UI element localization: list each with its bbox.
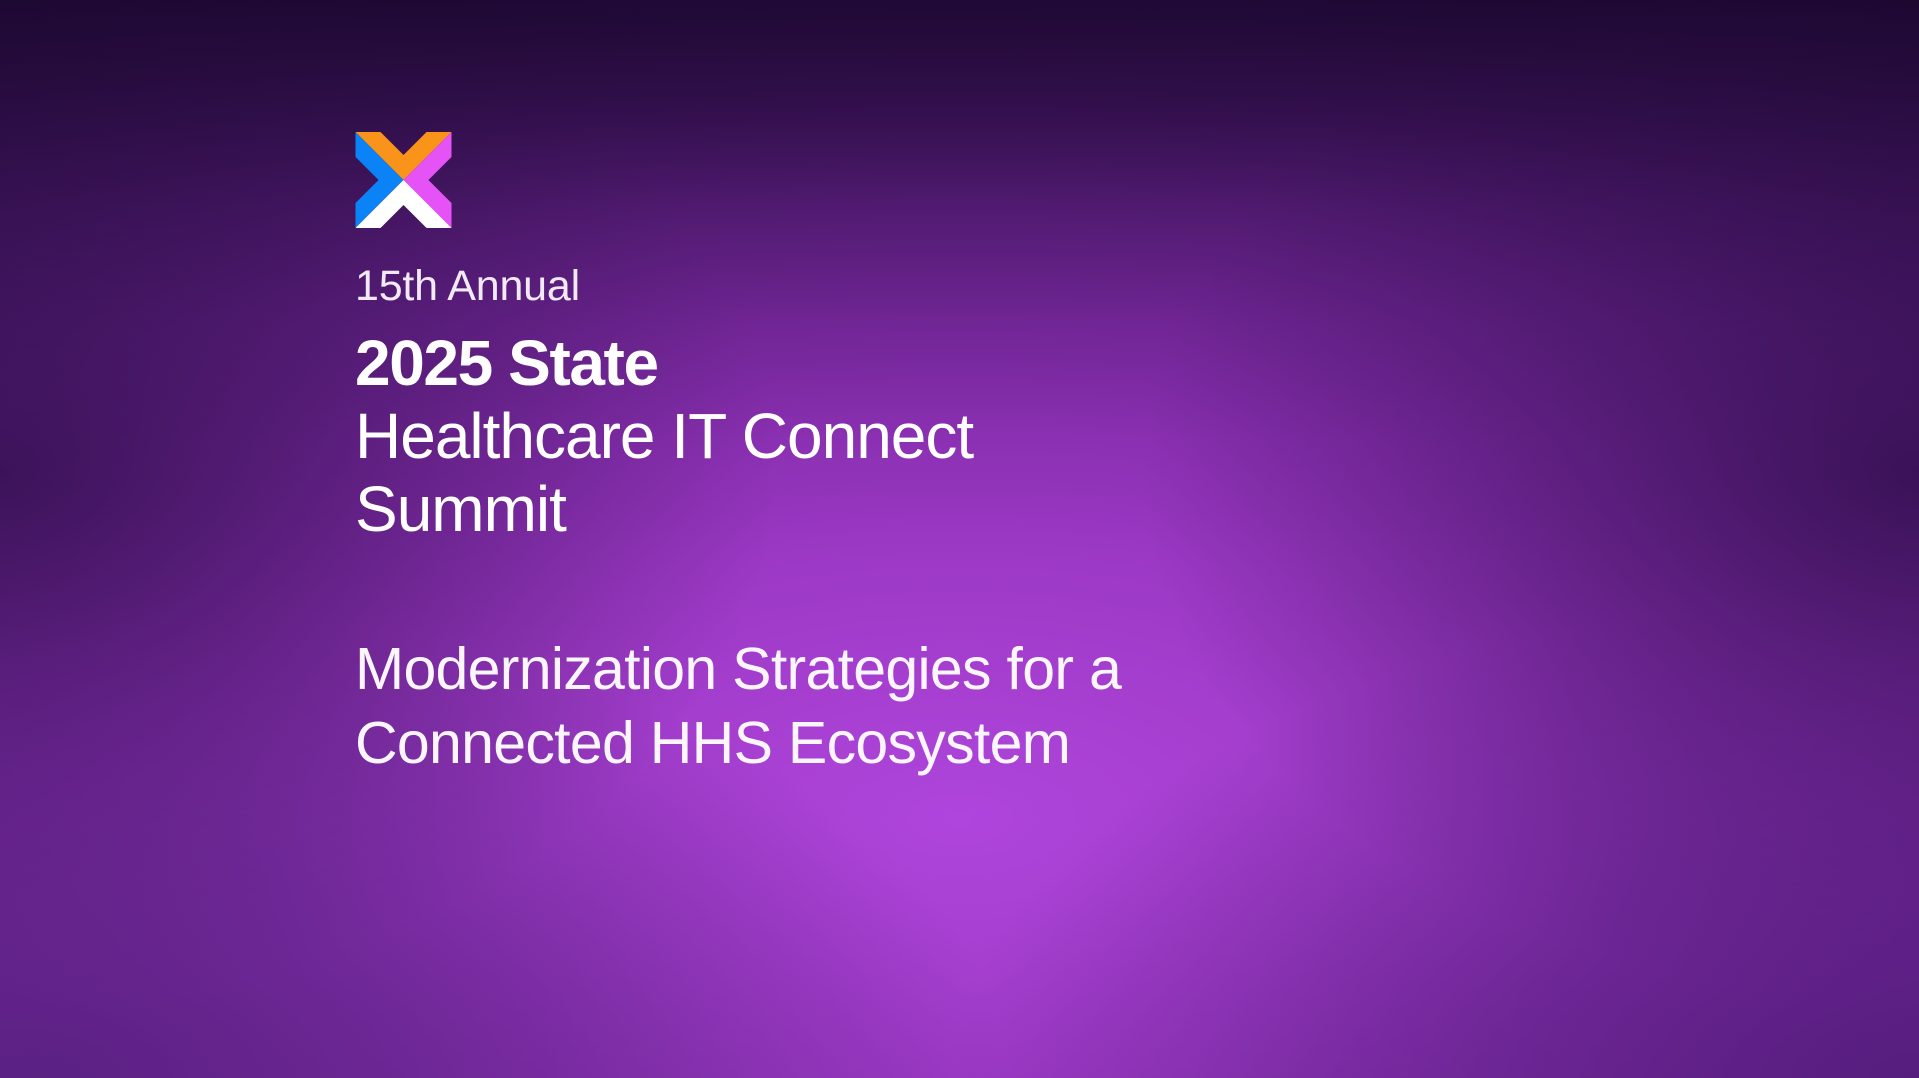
title-line-3: Summit	[355, 473, 1755, 546]
slide-content: 15th Annual 2025 State Healthcare IT Con…	[355, 132, 1755, 780]
subtitle-line-1: Modernization Strategies for a	[355, 632, 1755, 706]
healthcare-it-connect-x-logo-icon	[355, 132, 452, 228]
page-title: 2025 State Healthcare IT Connect Summit	[355, 309, 1755, 546]
title-line-1: 2025 State	[355, 327, 1755, 400]
subtitle-line-2: Connected HHS Ecosystem	[355, 706, 1755, 780]
eyebrow-text: 15th Annual	[355, 228, 1755, 309]
title-line-2: Healthcare IT Connect	[355, 400, 1755, 473]
page-subtitle: Modernization Strategies for a Connected…	[355, 546, 1755, 781]
summit-title-slide: 15th Annual 2025 State Healthcare IT Con…	[0, 0, 1919, 1078]
